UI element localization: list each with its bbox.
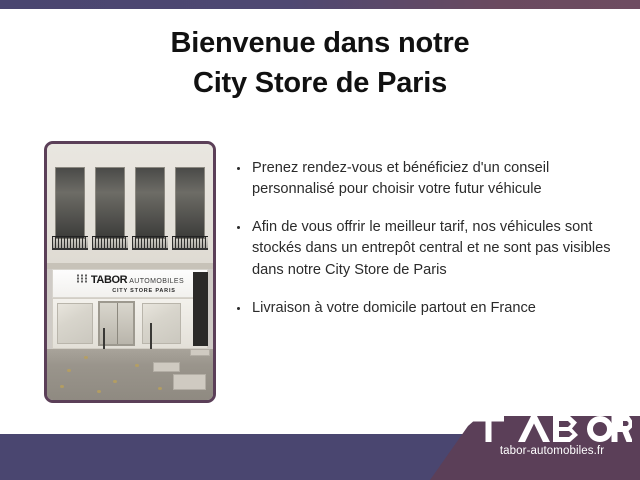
facade-balcony [172,236,209,250]
shop-window-right [142,303,182,344]
title-line-1: Bienvenue dans notre [0,24,640,64]
website-url: tabor-automobiles.fr [472,445,632,457]
shop-window-left [57,303,94,344]
top-accent-bar [0,0,640,9]
sign-subtitle: AUTOMOBILES [129,278,184,285]
facade-balcony [132,236,169,250]
fallen-leaf [60,385,64,388]
facade-window [175,167,205,239]
list-item: Livraison à votre domicile partout en Fr… [232,298,632,319]
sign-line-2: CITY STORE PARIS [112,288,176,294]
list-item: Afin de vous offrir le meilleur tarif, n… [232,217,632,280]
sign-brand: TABOR [91,275,127,286]
facade-window [95,167,125,239]
storefront-photo: TABOR AUTOMOBILES CITY STORE PARIS [44,141,216,403]
list-item: Prenez rendez-vous et bénéficiez d'un co… [232,158,632,200]
curb-stone-b [173,374,206,389]
page-title: Bienvenue dans notre City Store de Paris [0,24,640,103]
storefront-photo-content: TABOR AUTOMOBILES CITY STORE PARIS [47,144,213,400]
facade-balcony [52,236,89,250]
shop-side-panel [193,272,208,346]
curb-stone-c [190,349,210,357]
facade-balcony [92,236,129,250]
bullet-list: Prenez rendez-vous et bénéficiez d'un co… [232,158,632,336]
fallen-leaf [97,390,101,393]
brand-logo: tabor-automobiles.fr [472,414,632,457]
facade-window [135,167,165,239]
title-line-2: City Store de Paris [0,64,640,104]
storefront-sign: TABOR AUTOMOBILES CITY STORE PARIS [52,269,208,297]
storefront-sign-row-1: TABOR AUTOMOBILES [76,274,184,286]
fallen-leaf [113,380,117,383]
facade-window [55,167,85,239]
curb-stone-a [153,362,180,372]
presentation-slide: Bienvenue dans notre City Store de Paris… [0,0,640,480]
tabor-logo-icon [472,414,632,444]
sign-dots-icon [76,274,88,283]
